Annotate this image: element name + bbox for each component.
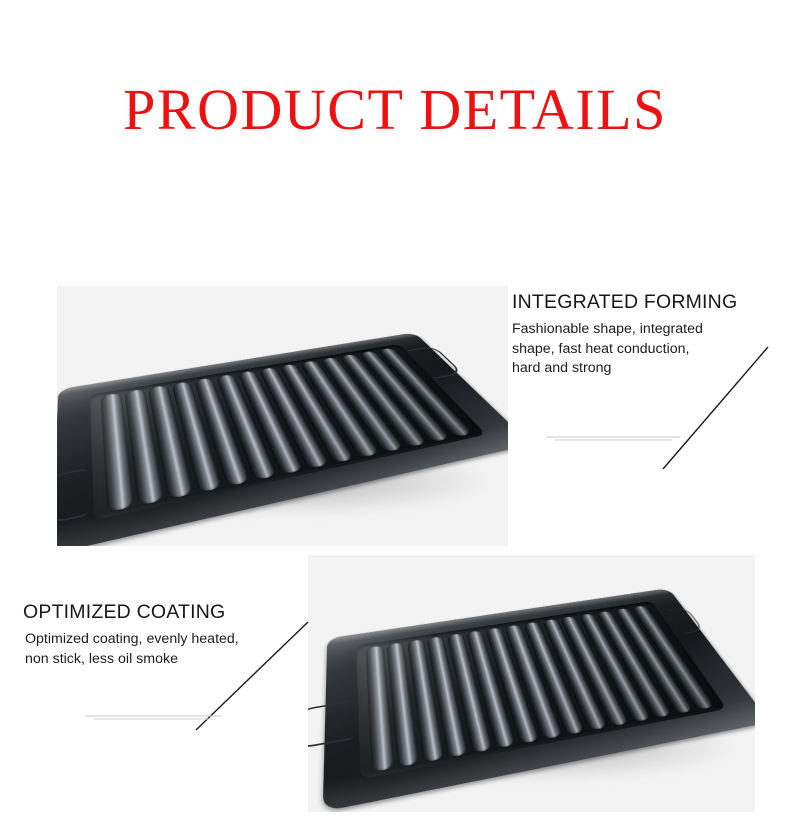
photo-stage-top — [57, 286, 508, 546]
product-photo-angled-bottom — [308, 555, 755, 812]
leader-line-integrated-forming — [540, 330, 790, 475]
leader-line-optimized-coating — [75, 620, 315, 735]
product-photo-angled-top — [57, 286, 508, 546]
leader-diagonal-top — [663, 347, 768, 469]
page-title: PRODUCT DETAILS — [0, 78, 790, 142]
leader-diagonal-bottom — [196, 622, 308, 730]
photo-stage-bottom — [308, 555, 755, 812]
callout-heading-integrated-forming: INTEGRATED FORMING — [512, 290, 762, 314]
